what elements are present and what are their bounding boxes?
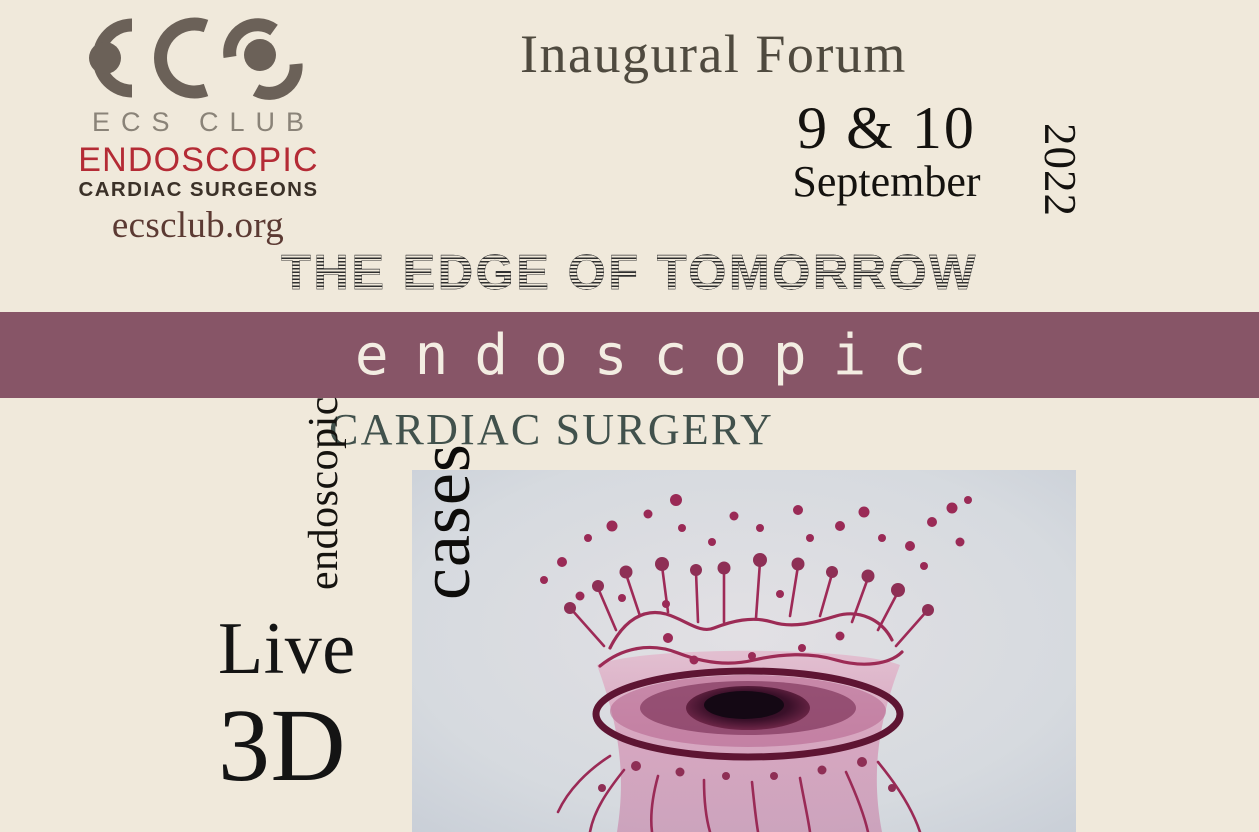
- logo-website-link[interactable]: ecsclub.org: [48, 204, 348, 247]
- live-3d-feature: Live 3D: [218, 610, 398, 798]
- event-year: 2022: [1034, 104, 1086, 236]
- vertical-cases-label: cases: [404, 443, 487, 600]
- format-label: 3D: [218, 694, 398, 798]
- ecs-monogram-icon: [60, 12, 310, 104]
- logo-profession-line: CARDIAC SURGEONS: [48, 178, 348, 202]
- band-headline: endoscopic: [0, 312, 1259, 398]
- poster-canvas: ECS CLUB ENDOSCOPIC CARDIAC SURGEONS ecs…: [0, 0, 1259, 832]
- event-month: September: [764, 158, 1009, 206]
- forum-title: Inaugural Forum: [520, 23, 1080, 85]
- event-days: 9 & 10: [764, 96, 1009, 160]
- event-date-block: 9 & 10 September 2022: [740, 96, 1080, 228]
- live-label: Live: [218, 610, 398, 688]
- logo-club-line: ECS CLUB: [48, 107, 348, 138]
- event-tagline: THE EDGE OF TOMORROW: [0, 247, 1259, 299]
- ecs-club-logo[interactable]: ECS CLUB ENDOSCOPIC CARDIAC SURGEONS ecs…: [48, 8, 358, 248]
- logo-specialty-line: ENDOSCOPIC: [48, 141, 348, 180]
- liquid-crown-splash-photo: [412, 470, 1076, 832]
- event-subtitle: CARDIAC SURGERY: [0, 404, 1259, 455]
- vertical-endoscopic-label: endoscopic: [300, 396, 348, 590]
